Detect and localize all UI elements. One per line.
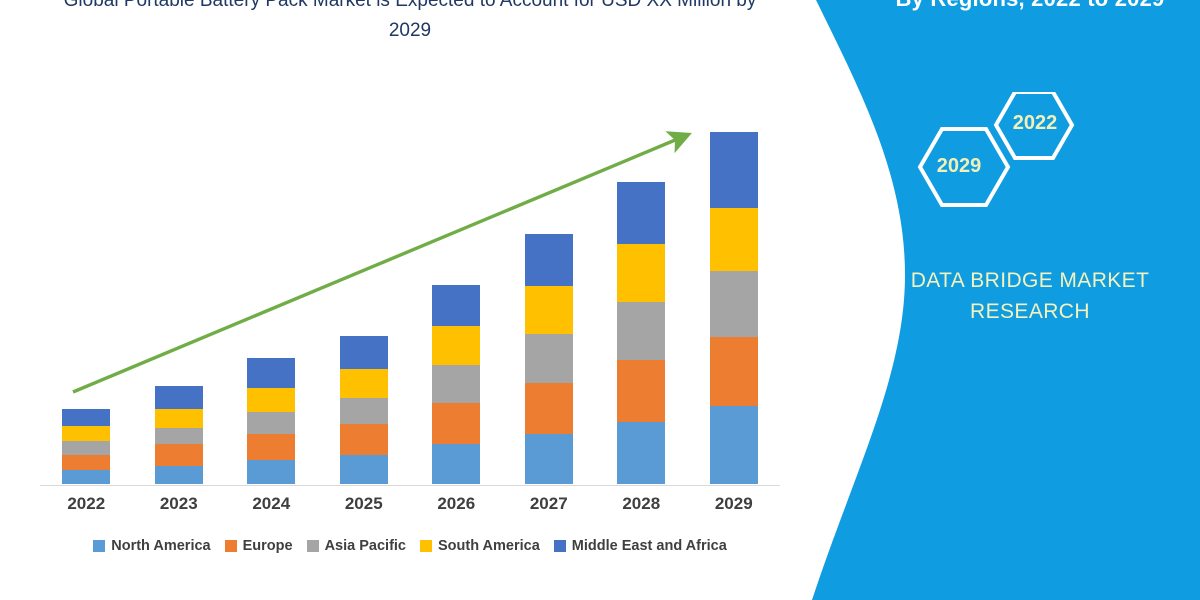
bar-segment[interactable] — [155, 428, 203, 444]
bar-segment[interactable] — [432, 365, 480, 403]
x-tick-2029: 2029 — [688, 494, 781, 514]
bar-segment[interactable] — [525, 234, 573, 286]
bar-slot-2029 — [688, 120, 781, 484]
bar-segment[interactable] — [710, 406, 758, 484]
bar-slot-2028 — [595, 120, 688, 484]
infographic-canvas: By Regions, 2022 to 2029 2029 2022 DATA … — [0, 0, 1200, 600]
bar-segment[interactable] — [62, 409, 110, 426]
plot-area — [40, 120, 780, 486]
legend-swatch-icon — [307, 540, 319, 552]
stacked-bar[interactable] — [617, 182, 665, 484]
bar-slot-2022 — [40, 120, 133, 484]
x-tick-2024: 2024 — [225, 494, 318, 514]
bar-slot-2023 — [133, 120, 226, 484]
bar-slot-2026 — [410, 120, 503, 484]
chart-title: Global Portable Battery Pack Market is E… — [40, 0, 780, 46]
legend-label: South America — [438, 538, 540, 554]
bar-segment[interactable] — [247, 412, 295, 434]
bar-segment[interactable] — [710, 337, 758, 406]
bar-segment[interactable] — [62, 455, 110, 470]
chart-legend: North AmericaEuropeAsia PacificSouth Ame… — [40, 538, 780, 554]
bar-segment[interactable] — [710, 208, 758, 271]
bar-segment[interactable] — [155, 409, 203, 428]
legend-item[interactable]: Middle East and Africa — [554, 538, 727, 554]
bar-segment[interactable] — [617, 182, 665, 244]
bar-segment[interactable] — [432, 285, 480, 326]
bar-segment[interactable] — [340, 398, 388, 424]
legend-label: Europe — [243, 538, 293, 554]
legend-label: Middle East and Africa — [572, 538, 727, 554]
x-tick-2027: 2027 — [503, 494, 596, 514]
legend-label: North America — [111, 538, 210, 554]
x-axis-line — [40, 485, 780, 486]
stacked-bar[interactable] — [432, 285, 480, 484]
bar-segment[interactable] — [62, 470, 110, 484]
stacked-bar[interactable] — [247, 358, 295, 484]
bar-segment[interactable] — [155, 466, 203, 484]
bar-group — [40, 120, 780, 484]
bar-segment[interactable] — [710, 271, 758, 337]
bar-segment[interactable] — [247, 460, 295, 484]
stacked-bar[interactable] — [525, 234, 573, 484]
x-tick-2023: 2023 — [133, 494, 226, 514]
bar-segment[interactable] — [432, 326, 480, 365]
x-tick-2022: 2022 — [40, 494, 133, 514]
bar-segment[interactable] — [617, 360, 665, 422]
bar-segment[interactable] — [247, 358, 295, 388]
legend-label: Asia Pacific — [325, 538, 406, 554]
legend-swatch-icon — [554, 540, 566, 552]
legend-item[interactable]: South America — [420, 538, 540, 554]
bar-segment[interactable] — [710, 132, 758, 208]
legend-item[interactable]: Asia Pacific — [307, 538, 406, 554]
bar-segment[interactable] — [525, 286, 573, 334]
stacked-bar[interactable] — [710, 132, 758, 484]
bar-segment[interactable] — [340, 336, 388, 369]
bar-segment[interactable] — [62, 441, 110, 455]
bar-segment[interactable] — [247, 388, 295, 412]
legend-item[interactable]: North America — [93, 538, 210, 554]
bar-segment[interactable] — [617, 302, 665, 360]
bar-slot-2025 — [318, 120, 411, 484]
legend-item[interactable]: Europe — [225, 538, 293, 554]
bar-slot-2027 — [503, 120, 596, 484]
legend-swatch-icon — [420, 540, 432, 552]
legend-swatch-icon — [93, 540, 105, 552]
bar-segment[interactable] — [617, 422, 665, 484]
x-tick-2025: 2025 — [318, 494, 411, 514]
bar-segment[interactable] — [247, 434, 295, 460]
bar-segment[interactable] — [155, 386, 203, 409]
bar-segment[interactable] — [525, 383, 573, 434]
bar-segment[interactable] — [340, 455, 388, 484]
stacked-bar[interactable] — [62, 409, 110, 484]
x-tick-2028: 2028 — [595, 494, 688, 514]
bar-segment[interactable] — [525, 434, 573, 484]
bar-segment[interactable] — [340, 369, 388, 398]
stacked-bar[interactable] — [340, 336, 388, 484]
x-tick-2026: 2026 — [410, 494, 503, 514]
stacked-bar[interactable] — [155, 386, 203, 484]
bar-segment[interactable] — [432, 403, 480, 444]
bar-segment[interactable] — [155, 444, 203, 466]
bar-segment[interactable] — [62, 426, 110, 441]
bar-slot-2024 — [225, 120, 318, 484]
bar-segment[interactable] — [432, 444, 480, 484]
x-axis-labels: 20222023202420252026202720282029 — [40, 494, 780, 514]
bar-segment[interactable] — [525, 334, 573, 383]
bar-segment[interactable] — [340, 424, 388, 455]
bar-segment[interactable] — [617, 244, 665, 302]
legend-swatch-icon — [225, 540, 237, 552]
